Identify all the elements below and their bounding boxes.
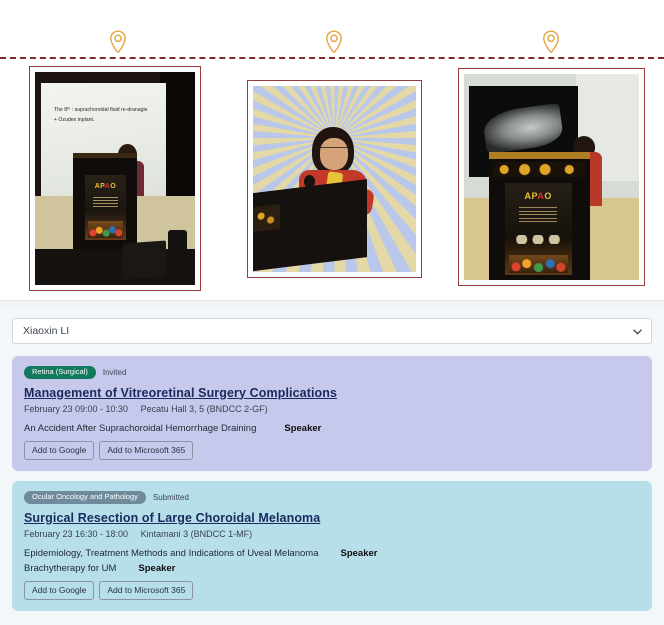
status-badge: Ocular Oncology and Pathology [24,491,146,504]
talk-title: An Accident After Suprachoroidal Hemorrh… [24,423,256,434]
photo-1-podium-poster: APAO [85,175,126,239]
photo-1-poster-lines [93,197,118,209]
person-select-value: Xiaoxin LI [23,325,69,337]
photo-row: The 8ᵗʰ : suprachoroidal fluid re-dranag… [0,66,664,296]
gallery-photo-2[interactable] [247,80,422,278]
talk-role: Speaker [340,548,377,559]
invitation-status: Invited [103,368,127,377]
photo-3-poster-sponsor-icons [514,235,562,244]
talk-role: Speaker [284,423,321,434]
session-card[interactable]: Retina (Surgical) Invited Management of … [12,356,652,471]
talk-row: Brachytherapy for UM Speaker [24,563,640,574]
calendar-buttons: Add to Google Add to Microsoft 365 [24,581,640,601]
session-meta-row: Retina (Surgical) Invited [24,366,640,379]
photo-2-speaker-face [320,138,348,170]
photo-1-stage-light [168,230,187,260]
photo-1-slide-text: The 8ᵗʰ : suprachoroidal fluid re-dranag… [54,106,149,126]
session-date: February 23 09:00 - 10:30 [24,404,128,414]
map-pin-icon[interactable] [542,30,560,56]
photo-1-content: The 8ᵗʰ : suprachoroidal fluid re-dranag… [35,72,195,285]
photo-2-content [253,86,416,272]
photo-3-poster-lines [519,207,557,225]
map-pin-icon[interactable] [109,30,127,56]
photo-3-podium-poster: APAO [505,183,572,275]
add-to-microsoft-button[interactable]: Add to Microsoft 365 [99,441,193,461]
photo-3-apao-logo: APAO [525,191,552,201]
talk-title: Brachytherapy for UM [24,563,116,574]
photo-2-speaker-glasses [320,147,348,154]
talk-row: An Accident After Suprachoroidal Hemorrh… [24,423,640,434]
photo-3-content: APAO [464,74,639,280]
session-schedule-line: February 23 16:30 - 18:00 Kintamani 3 (B… [24,529,640,539]
session-date: February 23 16:30 - 18:00 [24,529,128,539]
session-schedule-line: February 23 09:00 - 10:30 Pecatu Hall 3,… [24,404,640,414]
photo-1-apao-logo: APAO [95,183,116,190]
add-to-google-button[interactable]: Add to Google [24,441,94,461]
photo-3-medical-scan-image [482,103,565,154]
session-location: Kintamani 3 (BNDCC 1-MF) [141,529,253,539]
photo-3-poster-artwork [509,255,568,273]
session-meta-row: Ocular Oncology and Pathology Submitted [24,491,640,504]
photo-1-poster-artwork [88,221,122,238]
calendar-buttons: Add to Google Add to Microsoft 365 [24,441,640,461]
map-pin-icon[interactable] [325,30,343,56]
talk-role: Speaker [138,563,175,574]
status-badge: Retina (Surgical) [24,366,96,379]
session-title-link[interactable]: Management of Vitreoretinal Surgery Comp… [24,386,337,400]
invitation-status: Submitted [153,493,189,502]
photo-3-podium: APAO [489,152,591,280]
photo-2-podium-ornament [254,204,281,232]
photo-1-stage-monitor [123,241,166,280]
timeline-marker-row [0,30,664,60]
photo-gallery-timeline: The 8ᵗʰ : suprachoroidal fluid re-dranag… [0,0,664,300]
gallery-photo-3[interactable]: APAO [458,68,645,286]
session-location: Pecatu Hall 3, 5 (BNDCC 2-GF) [141,404,268,414]
section-divider [0,300,664,308]
chevron-down-icon[interactable] [633,322,642,340]
photo-3-podium-ornament [493,162,586,178]
add-to-google-button[interactable]: Add to Google [24,581,94,601]
photo-1-podium: APAO [73,153,137,255]
schedule-panel: Xiaoxin LI Retina (Surgical) Invited Man… [0,308,664,625]
session-title-link[interactable]: Surgical Resection of Large Choroidal Me… [24,511,320,525]
person-select-dropdown[interactable]: Xiaoxin LI [12,318,652,344]
talk-row: Epidemiology, Treatment Methods and Indi… [24,548,640,559]
gallery-photo-1[interactable]: The 8ᵗʰ : suprachoroidal fluid re-dranag… [29,66,201,291]
talk-title: Epidemiology, Treatment Methods and Indi… [24,548,318,559]
add-to-microsoft-button[interactable]: Add to Microsoft 365 [99,581,193,601]
session-card[interactable]: Ocular Oncology and Pathology Submitted … [12,481,652,611]
photo-2-podium [253,179,367,272]
